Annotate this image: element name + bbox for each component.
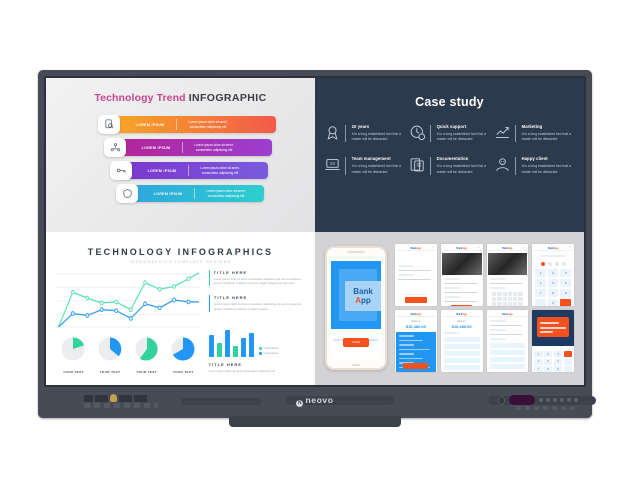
display-bottom-bezel: Nneovo (38, 387, 592, 418)
q1-bar-list: LOREM IPSUM Lorem ipsum dolor sit amet, … (46, 115, 315, 203)
q1-bar-item: LOREM IPSUM Lorem ipsum dolor sit amet, … (110, 161, 315, 180)
keypad-key[interactable]: 8 (548, 289, 559, 297)
ui-screen-register[interactable]: BankApp × (441, 244, 483, 306)
transaction-row[interactable] (444, 351, 480, 356)
bar (217, 343, 222, 357)
keypad-key[interactable] (564, 359, 572, 365)
phone-speaker (347, 251, 365, 253)
q1-title: Technology Trend INFOGRAPHIC (46, 92, 315, 104)
q3-foot-body: Lorem ipsum dolor sit amet consectetur a… (209, 369, 305, 373)
quadrant-technology-infographics: TECHNOLOGY INFOGRAPHICS INFOGRAPHICS TEM… (46, 232, 315, 386)
pie-caption: YOUR TEXT (129, 370, 164, 374)
quadrant-technology-trend: Technology Trend INFOGRAPHIC LOREM IPSUM… (46, 78, 315, 232)
phone-brand-first: Bank (353, 288, 373, 296)
display-screen: Technology Trend INFOGRAPHIC LOREM IPSUM… (46, 78, 584, 385)
bar (249, 333, 254, 357)
divider (345, 157, 346, 174)
keypad-key[interactable]: 9 (560, 289, 571, 297)
transfer-button[interactable] (403, 363, 428, 369)
bar (209, 335, 214, 356)
close-icon[interactable]: × (569, 246, 571, 249)
keypad-key[interactable] (564, 366, 572, 372)
q3-title: TECHNOLOGY INFOGRAPHICS (56, 247, 305, 257)
field-label (398, 274, 414, 276)
balance-label: Balance (412, 320, 421, 323)
ui-screen-verify[interactable]: BankApp × (487, 244, 529, 306)
case-study-title: Case study (324, 95, 575, 109)
credit-card (537, 317, 569, 337)
q3-foot-block: TITLE HERE Lorem ipsum dolor sit amet co… (209, 362, 305, 373)
transaction-row[interactable] (444, 358, 480, 363)
photo-banner (488, 253, 528, 275)
case-study-body: It is a long established fact that a rea… (437, 132, 490, 144)
keypad-key[interactable]: 7 (534, 366, 542, 372)
keypad-key[interactable]: 2 (548, 269, 559, 277)
ui-screen-pin[interactable]: BankApp × 1 2 (532, 244, 574, 306)
input-field[interactable] (490, 325, 523, 327)
keypad-key[interactable]: 3 (554, 351, 562, 357)
q1-bar-item: LOREM IPSUM Lorem ipsum dolor sit amet, … (98, 115, 315, 134)
card-line (399, 358, 423, 360)
shield-home-icon (116, 184, 138, 203)
input-field[interactable] (444, 292, 477, 294)
screen-logo: BankApp (411, 247, 422, 250)
control-cluster[interactable] (498, 395, 578, 405)
balance-block: Balance $10,480.00 (444, 320, 480, 329)
case-study-heading: Quick support (437, 124, 490, 129)
screen-header: BankApp (488, 312, 528, 317)
control-key-labels (516, 406, 578, 410)
keypad-key[interactable]: 6 (560, 279, 571, 287)
balance-label: Balance (457, 320, 466, 323)
pin-heading (541, 255, 566, 257)
transaction-row[interactable] (444, 337, 480, 342)
divider (515, 157, 516, 174)
history-row[interactable] (490, 350, 526, 355)
card-keypad[interactable]: 1 2 3 4 5 6 7 8 9 (532, 349, 574, 372)
keypad-key[interactable] (535, 299, 546, 307)
quadrant-bank-app-uikit: Bank App Lorem ipsum dolor sit amet cons… (315, 232, 584, 386)
documents-icon (409, 156, 426, 173)
q3-block-title: TITLE HERE (214, 295, 305, 300)
case-study-heading: 10 years (352, 124, 405, 129)
field-label (490, 329, 506, 331)
q1-bar-label: LOREM IPSUM (124, 123, 176, 127)
legend-label: Lorem ipsum (264, 352, 279, 355)
case-study-heading: Happy client (522, 156, 575, 161)
case-study-grid: 10 years It is a long established fact t… (324, 124, 575, 176)
q1-title-accent: Technology Trend (94, 92, 185, 104)
case-study-heading: Team management (352, 156, 405, 161)
card-line (399, 349, 430, 351)
control-keys[interactable] (539, 398, 578, 402)
keypad-action[interactable] (564, 351, 572, 357)
neovo-interactive-display: Technology Trend INFOGRAPHIC LOREM IPSUM… (38, 70, 592, 418)
phone-home-indicator (352, 364, 360, 366)
screen-header: BankApp (396, 312, 436, 317)
keypad-key[interactable]: 4 (535, 279, 546, 287)
pin-dot (555, 262, 559, 266)
card-line (399, 340, 423, 342)
balance-value: $10,480.00 (398, 324, 434, 329)
q1-bar-body: LOREM IPSUM Lorem ipsum dolor sit amet, … (116, 116, 276, 133)
key-idea-icon (110, 161, 132, 180)
input-field[interactable] (444, 283, 477, 285)
history-row[interactable] (490, 364, 526, 369)
history-row[interactable] (490, 343, 526, 348)
q1-bar-body: LOREM IPSUM Lorem ipsum dolor sit amet, … (134, 185, 264, 202)
balance-value: $10,480.00 (444, 324, 480, 329)
q1-bar-label: LOREM IPSUM (130, 146, 182, 150)
phone-login-button[interactable]: LOGIN (343, 338, 369, 347)
screen-logo: BankApp (548, 247, 559, 250)
screen-logo: BankApp (456, 313, 467, 316)
power-button[interactable] (509, 395, 535, 405)
document-search-icon (98, 115, 120, 134)
q1-bar-item: LOREM IPSUM Lorem ipsum dolor sit amet, … (104, 138, 315, 157)
case-study-body: It is a long established fact that a rea… (352, 164, 405, 176)
case-study-heading: Marketing (522, 124, 575, 129)
field-label (490, 338, 506, 340)
helper-text (403, 294, 428, 296)
field-label (444, 287, 460, 289)
close-icon[interactable]: × (478, 246, 480, 249)
monitor-stand (229, 416, 401, 427)
q1-bar-text: Lorem ipsum dolor sit amet, consectetur … (195, 189, 257, 198)
screen-header: BankApp (533, 246, 573, 251)
case-study-heading: Documentation (437, 156, 490, 161)
q3-charts-column: YOUR TEXT YOUR TEXT (56, 270, 201, 374)
q1-bar-item: LOREM IPSUM Lorem ipsum dolor sit amet, … (116, 184, 315, 203)
q3-block-title: TITLE HERE (214, 270, 305, 275)
control-key[interactable] (553, 398, 557, 402)
pie-caption: YOUR TEXT (56, 370, 91, 374)
divider (515, 125, 516, 142)
pie-chart: YOUR TEXT (129, 336, 164, 374)
ui-screen-login[interactable]: BankApp × (395, 244, 437, 306)
phone-logo-card: Bank App (345, 281, 381, 311)
pie-chart: YOUR TEXT (93, 336, 128, 374)
input-field[interactable] (490, 334, 523, 336)
ui-screens-grid: BankApp × (395, 244, 574, 372)
keypad-key[interactable]: 1 (534, 351, 542, 357)
case-study-body: It is a long established fact that a rea… (522, 164, 575, 176)
ui-screen-history[interactable]: BankApp (487, 310, 529, 372)
pie-caption: YOUR TEXT (166, 370, 201, 374)
screen-header: BankApp (488, 246, 528, 251)
keypad-confirm[interactable] (560, 299, 571, 307)
phone-screen: Bank App Lorem ipsum dolor sit amet cons… (331, 257, 381, 359)
card-line (399, 335, 414, 337)
case-study-item: 10 years It is a long established fact t… (324, 124, 405, 143)
case-study-body: It is a long established fact that a rea… (437, 164, 490, 176)
control-key[interactable] (560, 398, 564, 402)
control-key[interactable] (539, 398, 543, 402)
pie-caption: YOUR TEXT (93, 370, 128, 374)
ui-screen-transactions[interactable]: BankApp Balance $10,480.00 (441, 310, 483, 372)
keypad-key[interactable]: 5 (544, 359, 552, 365)
pin-dots (535, 262, 571, 266)
accent-bar (209, 295, 210, 312)
control-key[interactable] (567, 398, 571, 402)
photo-banner (442, 253, 482, 275)
phone-mockup: Bank App Lorem ipsum dolor sit amet cons… (325, 246, 387, 370)
q1-title-main: INFOGRAPHIC (189, 92, 267, 104)
pin-dot (562, 262, 566, 266)
q1-bar-body: LOREM IPSUM Lorem ipsum dolor sit amet, … (122, 139, 272, 156)
pie-chart: YOUR TEXT (56, 336, 91, 374)
q1-bar-label: LOREM IPSUM (142, 192, 194, 196)
history-row[interactable] (490, 357, 526, 362)
q3-body: YOUR TEXT YOUR TEXT (56, 270, 305, 374)
input-field[interactable] (490, 283, 523, 285)
q3-subtitle: INFOGRAPHICS TEMPLATE DESIGNS (56, 260, 305, 264)
transaction-row[interactable] (444, 365, 480, 370)
screenshot-stage: Technology Trend INFOGRAPHIC LOREM IPSUM… (0, 0, 630, 480)
q1-bar-text: Lorem ipsum dolor sit amet, consectetur … (189, 166, 251, 175)
bar (241, 338, 246, 357)
legend-swatch (259, 352, 262, 355)
svg-text:24: 24 (330, 162, 335, 167)
case-study-item: Marketing It is a long established fact … (494, 124, 575, 143)
phone-brand-second: App (355, 297, 371, 305)
award-badge-icon (324, 124, 341, 141)
field-label (444, 278, 460, 280)
pin-dot (541, 262, 545, 266)
keypad-key[interactable]: 9 (554, 366, 562, 372)
case-study-body: It is a long established fact that a rea… (522, 132, 575, 144)
accent-bar (209, 270, 210, 287)
keypad-key[interactable]: 4 (534, 359, 542, 365)
field-label (398, 265, 414, 267)
laptop-24-icon: 24 (324, 156, 341, 173)
primary-button[interactable] (405, 297, 426, 303)
q3-side-block: TITLE HERE Lorem ipsum dolor sit amet co… (209, 270, 305, 287)
screen-logo: BankApp (502, 247, 513, 250)
q1-bar-text: Lorem ipsum dolor sit amet, consectetur … (183, 143, 245, 152)
field-label (490, 287, 506, 289)
keypad-key[interactable]: 8 (544, 366, 552, 372)
clock-24-icon (409, 124, 426, 141)
ui-screen-card[interactable]: 1 2 3 4 5 6 7 8 9 (532, 310, 574, 372)
keypad-key[interactable]: 0 (548, 299, 559, 307)
screen-header: BankApp (442, 312, 482, 317)
brand-name: neovo (305, 395, 333, 405)
quadrant-case-study: Case study 10 years It is a long establi… (315, 78, 584, 232)
q3-block-body: Lorem ipsum dolor sit amet consectetur a… (214, 302, 305, 312)
q3-block-body: Lorem ipsum dolor sit amet consectetur a… (214, 277, 305, 287)
virtual-keyboard[interactable] (490, 292, 526, 307)
field-label (490, 320, 506, 322)
divider (345, 125, 346, 142)
case-study-item: Happy client It is a long established fa… (494, 156, 575, 175)
growth-chart-icon (494, 124, 511, 141)
primary-button[interactable] (451, 305, 472, 306)
input-field[interactable] (444, 301, 477, 303)
bar (233, 346, 238, 356)
q3-side-block: TITLE HERE Lorem ipsum dolor sit amet co… (209, 295, 305, 312)
section-label (444, 332, 460, 334)
team-network-icon (104, 138, 126, 157)
card-line (399, 344, 414, 346)
pie-chart: YOUR TEXT (166, 336, 201, 374)
input-field[interactable] (398, 279, 431, 281)
control-key[interactable] (546, 398, 550, 402)
bar-chart (209, 323, 254, 357)
divider (430, 157, 431, 174)
numeric-keypad[interactable]: 1 2 3 4 5 6 7 8 9 0 (535, 269, 571, 307)
q1-bar-text: Lorem ipsum dolor sit amet, consectetur … (177, 120, 239, 129)
input-field[interactable] (398, 270, 431, 272)
case-study-item: 24 Team management It is a long establis… (324, 156, 405, 175)
keypad-key[interactable]: 3 (560, 269, 571, 277)
screen-logo: BankApp (411, 313, 422, 316)
field-label (444, 296, 460, 298)
close-icon[interactable]: × (524, 246, 526, 249)
q3-text-column: TITLE HERE Lorem ipsum dolor sit amet co… (209, 270, 305, 374)
ui-screen-account[interactable]: BankApp Balance $10,480.00 (395, 310, 437, 372)
keypad-key[interactable]: 6 (554, 359, 562, 365)
legend-label: Lorem ipsum (264, 347, 279, 350)
field-label (490, 278, 506, 280)
card-line (399, 353, 414, 355)
case-study-item: Quick support It is a long established f… (409, 124, 490, 143)
close-icon[interactable]: × (432, 246, 434, 249)
transaction-row[interactable] (444, 344, 480, 349)
bar-chart-legend: Lorem ipsum Lorem ipsum (259, 347, 279, 357)
ir-sensor-icon (498, 396, 505, 405)
q3-foot-title: TITLE HERE (209, 362, 305, 367)
display-bezel: Technology Trend INFOGRAPHIC LOREM IPSUM… (44, 76, 586, 387)
phone-brand-rest: pp (361, 296, 371, 305)
keypad-key[interactable]: 5 (548, 279, 559, 287)
keypad-key[interactable]: 7 (535, 289, 546, 297)
control-key[interactable] (574, 398, 578, 402)
screen-header: BankApp (442, 246, 482, 251)
keypad-key[interactable]: 1 (535, 269, 546, 277)
pie-chart-row: YOUR TEXT YOUR TEXT (56, 336, 201, 374)
pin-dot (548, 262, 552, 266)
transaction-row[interactable] (444, 372, 480, 373)
legend-swatch (259, 347, 262, 350)
card-hero (532, 310, 574, 346)
line-chart (56, 270, 201, 330)
brand-mark-icon: N (296, 400, 303, 407)
happy-client-icon (494, 156, 511, 173)
keypad-key[interactable]: 2 (544, 351, 552, 357)
divider (430, 125, 431, 142)
screen-logo: BankApp (456, 247, 467, 250)
balance-block: Balance $10,480.00 (398, 320, 434, 329)
case-study-item: Documentation It is a long established f… (409, 156, 490, 175)
q1-bar-body: LOREM IPSUM Lorem ipsum dolor sit amet, … (128, 162, 268, 179)
screen-logo: BankApp (502, 313, 513, 316)
q1-bar-label: LOREM IPSUM (136, 169, 188, 173)
screen-header: BankApp (396, 246, 436, 251)
case-study-body: It is a long established fact that a rea… (352, 132, 405, 144)
bar-chart-wrap: Lorem ipsum Lorem ipsum (209, 321, 305, 357)
bar (225, 330, 230, 357)
